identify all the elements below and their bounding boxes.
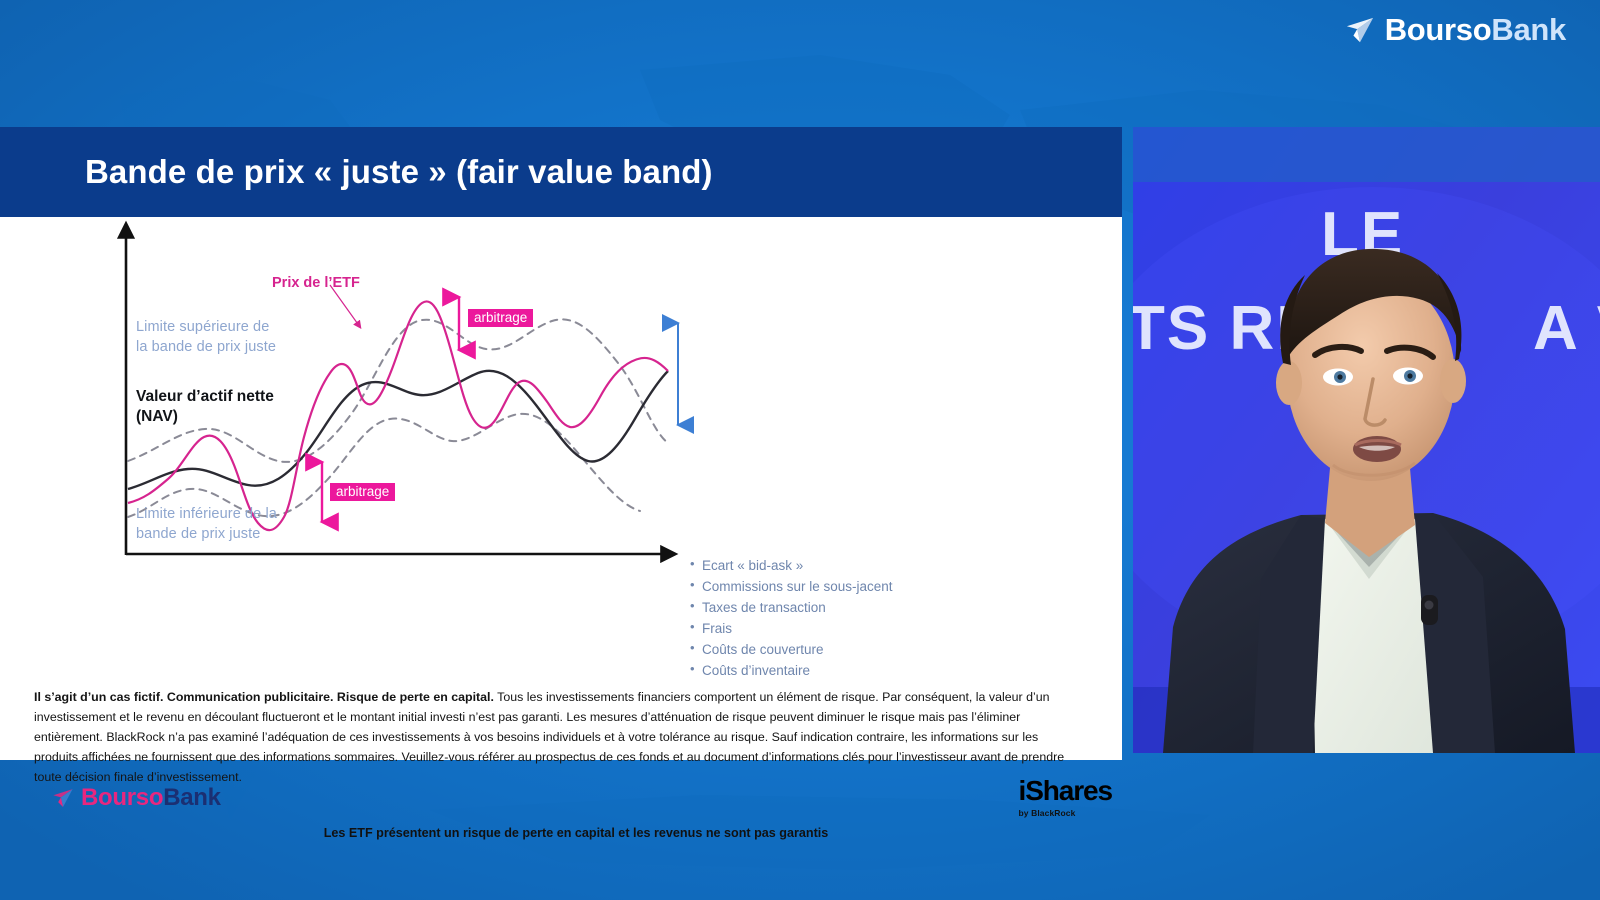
- fair-value-band-chart: Limite supérieure de la bande de prix ju…: [0, 217, 1122, 567]
- boursobank-logo-header: BoursoBank: [1345, 14, 1566, 45]
- paper-plane-icon: [1345, 15, 1375, 45]
- etf-price-leader-line: [330, 285, 360, 327]
- page-title: Bande de prix « juste » (fair value band…: [85, 153, 713, 191]
- footer-part-bank: Bank: [163, 784, 221, 811]
- boursobank-wordmark: BoursoBank: [1385, 14, 1566, 45]
- upper-band-label: Limite supérieure de la bande de prix ju…: [136, 318, 276, 357]
- video-feed-panel[interactable]: LE TS RÉPO A VOS: [1133, 127, 1600, 753]
- ishares-wordmark: iShares: [1019, 777, 1112, 805]
- arbitrage-badge-top: arbitrage: [468, 309, 533, 327]
- cost-item: Coûts de couverture: [690, 642, 893, 658]
- backdrop-text-line3: A VOS: [1533, 294, 1600, 363]
- presentation-slide: Bande de prix « juste » (fair value band…: [0, 127, 1122, 760]
- lapel-microphone-icon: [1421, 595, 1438, 625]
- footer-part-bourso: Bourso: [81, 784, 163, 811]
- brand-part-bank: Bank: [1491, 12, 1566, 47]
- boursobank-logo-footer: BoursoBank: [52, 786, 221, 810]
- cost-item: Commissions sur le sous-jacent: [690, 579, 893, 595]
- cost-item: Frais: [690, 621, 893, 637]
- slide-header-bar: Bande de prix « juste » (fair value band…: [0, 127, 1122, 217]
- nav-label: Valeur d’actif nette (NAV): [136, 387, 274, 427]
- cost-item: Coûts d’inventaire: [690, 663, 893, 679]
- lower-band-label: Limite inférieure de la bande de prix ju…: [136, 505, 277, 544]
- cost-item: Ecart « bid-ask »: [690, 558, 893, 574]
- cost-components-list: Ecart « bid-ask » Commissions sur le sou…: [690, 558, 893, 679]
- cost-item: Taxes de transaction: [690, 600, 893, 616]
- etf-price-label: Prix de l’ETF: [272, 275, 360, 291]
- risk-banner: Les ETF présentent un risque de perte en…: [0, 826, 1122, 840]
- brand-part-bourso: Bourso: [1385, 12, 1492, 47]
- arbitrage-badge-bottom: arbitrage: [330, 483, 395, 501]
- boursobank-footer-wordmark: BoursoBank: [81, 786, 221, 810]
- ishares-byline: by BlackRock: [1019, 808, 1112, 818]
- slide-body: Limite supérieure de la bande de prix ju…: [0, 217, 1122, 760]
- ishares-logo: iShares by BlackRock: [1019, 777, 1112, 818]
- disclaimer-body: Tous les investissements financiers comp…: [34, 690, 1064, 784]
- disclaimer-lead: Il s’agit d’un cas fictif. Communication…: [34, 690, 494, 704]
- video-frame: LE TS RÉPO A VOS: [1133, 127, 1600, 753]
- paper-plane-icon: [52, 787, 74, 809]
- disclaimer-text: Il s’agit d’un cas fictif. Communication…: [34, 687, 1084, 787]
